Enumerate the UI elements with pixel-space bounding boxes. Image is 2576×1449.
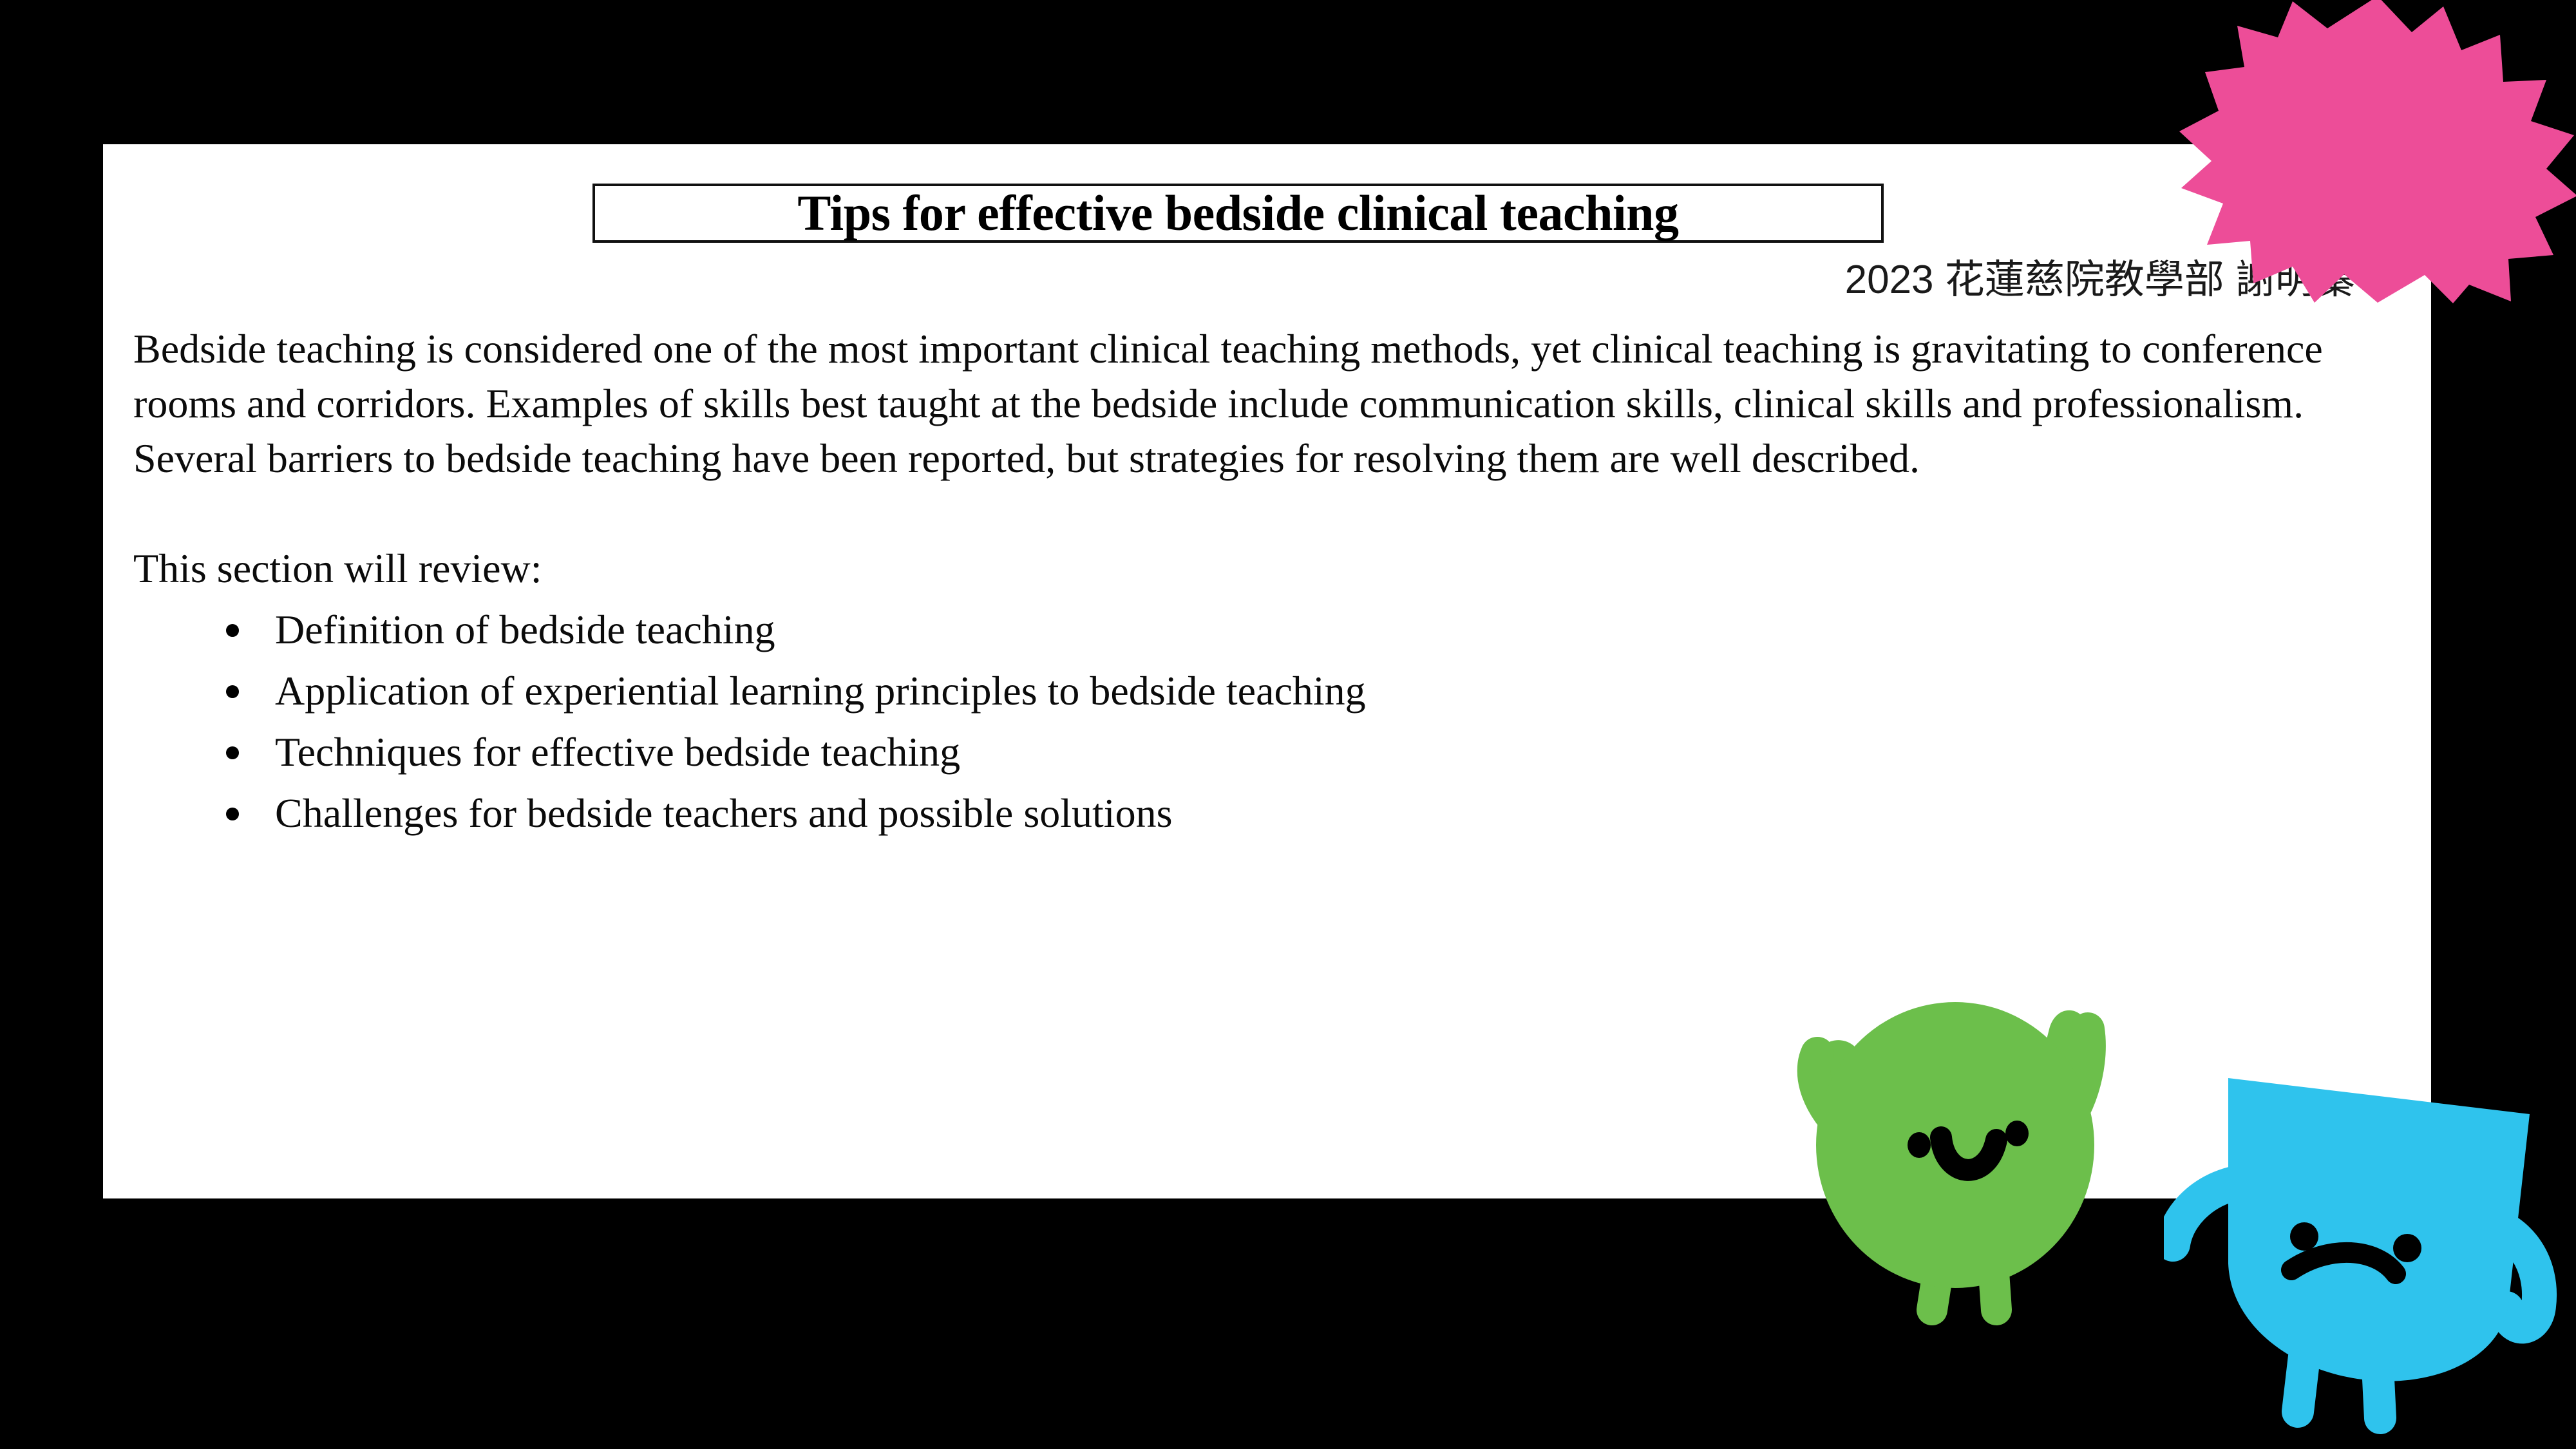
bullet-dot-icon (226, 746, 239, 759)
slide-stage: Tips for effective bedside clinical teac… (0, 0, 2576, 1449)
green-mascot-left-eye (1908, 1132, 1931, 1158)
intro-paragraph: Bedside teaching is considered one of th… (133, 321, 2368, 486)
section-intro-line: This section will review: (133, 486, 2394, 596)
page-title: Tips for effective bedside clinical teac… (797, 188, 1678, 238)
list-item-label: Definition of bedside teaching (275, 607, 775, 652)
review-bullet-list: Definition of bedside teaching Applicati… (133, 601, 2394, 843)
list-item: Definition of bedside teaching (203, 601, 2394, 659)
list-item-label: Application of experiential learning pri… (275, 668, 1366, 714)
green-mascot-right-eye (2005, 1121, 2029, 1146)
list-item-label: Challenges for bedside teachers and poss… (275, 790, 1172, 836)
slide-title-box: Tips for effective bedside clinical teac… (592, 184, 1884, 243)
list-item: Application of experiential learning pri… (203, 662, 2394, 721)
blue-mascot-body (2228, 1078, 2530, 1381)
bullet-dot-icon (226, 808, 239, 820)
green-mascot-body (1816, 1002, 2094, 1288)
green-blob-mascot (1739, 933, 2151, 1332)
blue-mascot-left-arm (2173, 1184, 2233, 1244)
pink-starburst-icon (2178, 0, 2576, 304)
blue-mascot-right-eye (2393, 1234, 2421, 1262)
list-item: Techniques for effective bedside teachin… (203, 723, 2394, 782)
bullet-dot-icon (226, 685, 239, 698)
slide-body: Bedside teaching is considered one of th… (133, 321, 2394, 846)
bullet-dot-icon (226, 624, 239, 637)
blue-square-mascot (2164, 1018, 2576, 1449)
list-item: Challenges for bedside teachers and poss… (203, 784, 2394, 843)
list-item-label: Techniques for effective bedside teachin… (275, 729, 960, 775)
blue-mascot-left-eye (2290, 1222, 2318, 1251)
